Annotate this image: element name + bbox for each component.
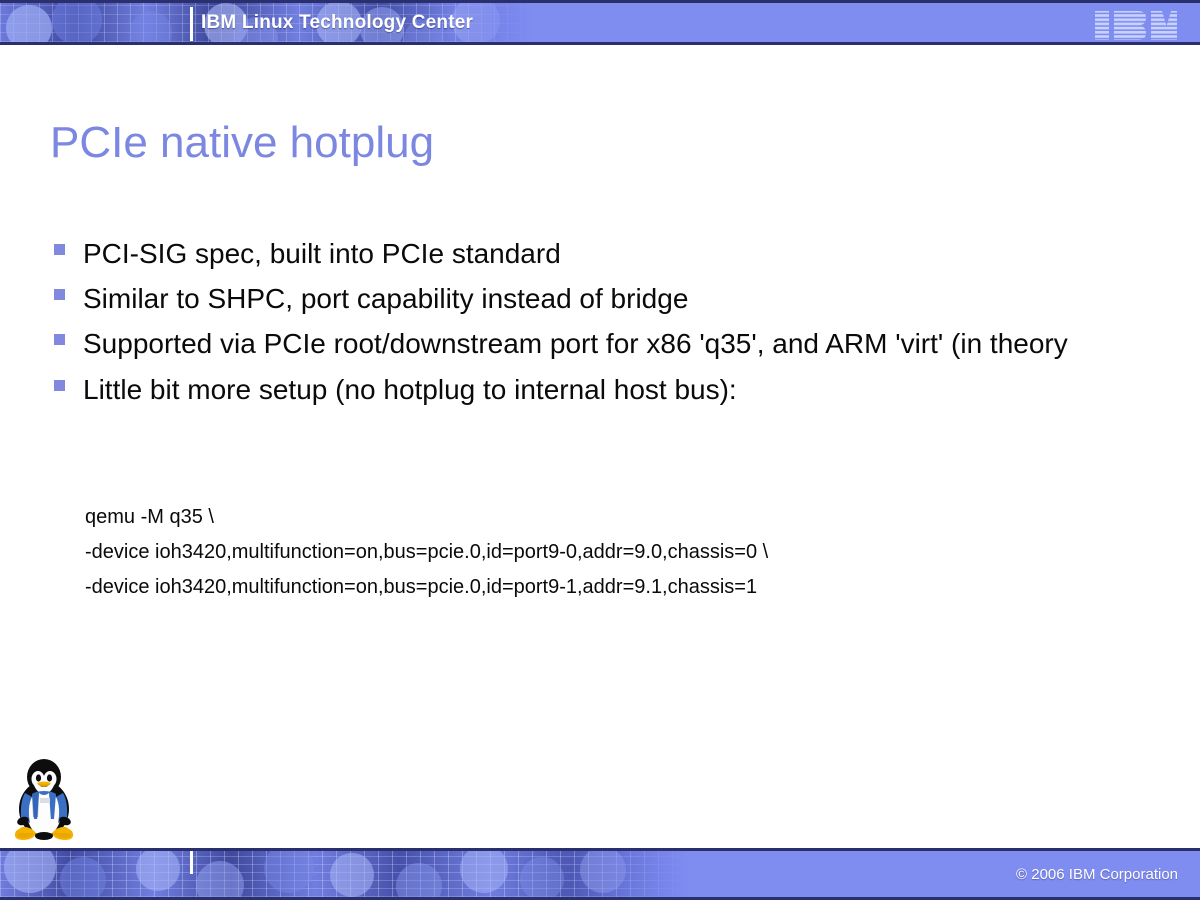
list-item: Similar to SHPC, port capability instead… [54, 277, 1124, 321]
code-line: -device ioh3420,multifunction=on,bus=pci… [85, 541, 768, 563]
pattern-circle [520, 857, 564, 897]
pattern-circle [60, 857, 106, 897]
list-item-label: Supported via PCIe root/downstream port … [83, 322, 1124, 366]
square-bullet-icon [54, 380, 65, 391]
pattern-fade-overlay [560, 851, 700, 897]
square-bullet-icon [54, 334, 65, 345]
ibm-striped-logo-icon [1094, 10, 1178, 41]
page-title: PCIe native hotplug [50, 118, 434, 168]
code-line: qemu -M q35 \ [85, 506, 214, 528]
slide-footer-bar: © 2006 IBM Corporation [0, 848, 1200, 900]
tux-linux-penguin-icon [8, 757, 80, 843]
square-bullet-icon [54, 244, 65, 255]
bullet-list: PCI-SIG spec, built into PCIe standard S… [54, 232, 1124, 413]
code-line: -device ioh3420,multifunction=on,bus=pci… [85, 576, 757, 598]
header-title: IBM Linux Technology Center [201, 12, 473, 34]
header-divider-icon [190, 7, 193, 41]
slide-header-bar: IBM Linux Technology Center [0, 0, 1200, 45]
slide-canvas: IBM Linux Technology Center PC [0, 0, 1200, 900]
pattern-circle [52, 3, 102, 42]
footer-decorative-pattern [0, 851, 700, 897]
list-item-label: Similar to SHPC, port capability instead… [83, 277, 1124, 321]
list-item: Little bit more setup (no hotplug to int… [54, 368, 1124, 412]
pattern-circle [330, 853, 374, 897]
list-item-label: Little bit more setup (no hotplug to int… [83, 368, 1124, 412]
code-snippet: qemu -M q35 \ -device ioh3420,multifunct… [85, 500, 768, 606]
square-bullet-icon [54, 289, 65, 300]
list-item: PCI-SIG spec, built into PCIe standard [54, 232, 1124, 276]
list-item-label: PCI-SIG spec, built into PCIe standard [83, 232, 1124, 276]
list-item: Supported via PCIe root/downstream port … [54, 322, 1124, 366]
copyright-label: © 2006 IBM Corporation [1016, 866, 1178, 883]
footer-divider-icon [190, 851, 193, 874]
